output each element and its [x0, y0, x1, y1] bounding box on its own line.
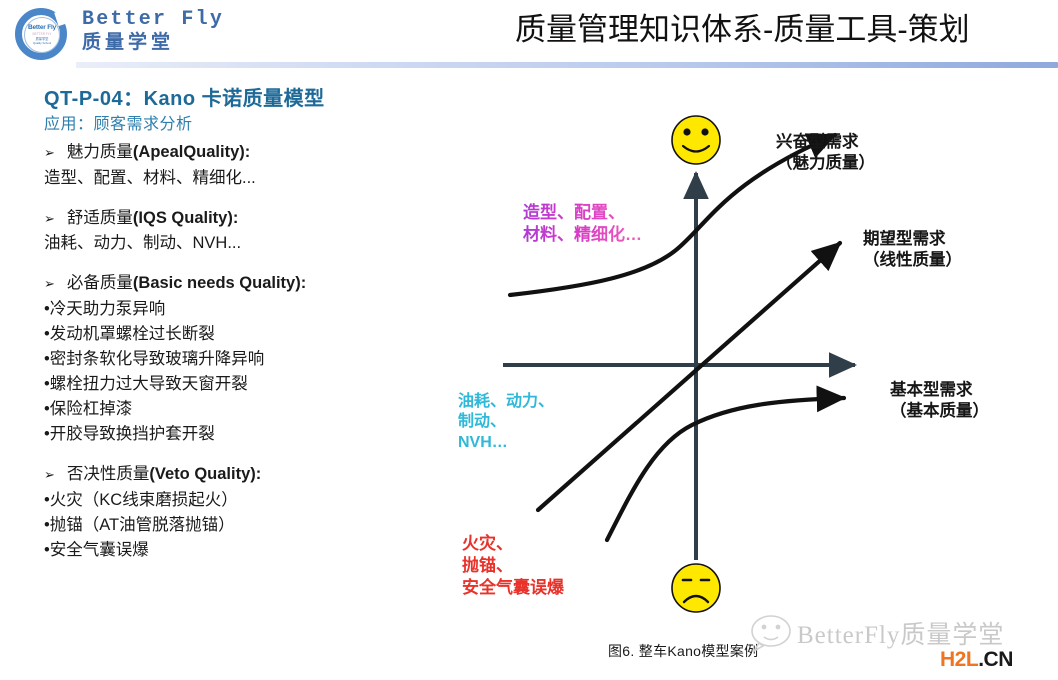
group-heading: ➢否决性质量(Veto Quality): [44, 462, 464, 488]
list-item: •安全气囊误爆 [44, 538, 464, 563]
annotation-attractive-line2: 材料、精细化… [523, 224, 642, 246]
label-basic-need: 基本型需求 （基本质量） [890, 380, 989, 422]
list-item: •发动机罩螺栓过长断裂 [44, 322, 464, 347]
list-item: •抛锚（AT油管脱落抛锚） [44, 513, 464, 538]
site-watermark-prefix: H2L [940, 648, 978, 671]
annotation-performance-items: 油耗、动力、 制动、 NVH… [458, 392, 554, 453]
group-heading-en: (ApealQuality): [133, 143, 250, 161]
page-title: 质量管理知识体系-质量工具-策划 [515, 4, 1055, 49]
annotation-veto-items: 火灾、 抛锚、 安全气囊误爆 [462, 533, 564, 598]
site-watermark: H2L.CN [940, 648, 1013, 672]
quality-group-veto: ➢否决性质量(Veto Quality): •火灾（KC线束磨损起火） •抛锚（… [44, 462, 464, 563]
label-exciting-line2: （魅力质量） [776, 153, 875, 174]
smiley-sad-face-icon [672, 564, 720, 612]
annotation-attractive-line1: 造型、配置、 [523, 202, 642, 224]
bullet-arrow-icon: ➢ [44, 467, 55, 482]
list-item: 造型、配置、材料、精细化... [44, 166, 464, 191]
site-watermark-suffix: .CN [978, 648, 1013, 671]
logo-text-line4: Quality School [33, 42, 51, 45]
label-performance-line2: （线性质量） [863, 250, 962, 271]
brand-wordmark: Better Fly 质量学堂 [82, 8, 224, 54]
group-heading-cn: 必备质量 [67, 274, 133, 292]
annotation-performance-line3: NVH… [458, 433, 554, 453]
spacer [44, 191, 464, 206]
header-divider [76, 62, 1058, 68]
bullet-arrow-icon: ➢ [44, 276, 55, 291]
annotation-veto-line1: 火灾、 [462, 533, 564, 555]
quality-group-basic: ➢必备质量(Basic needs Quality): •冷天助力泵异响 •发动… [44, 271, 464, 447]
logo-inner-disc: Better Fly BETTER FLY 质量学堂 Quality Schoo… [24, 17, 60, 53]
group-heading-cn: 舒适质量 [67, 209, 133, 227]
brand-name-cn: 质量学堂 [82, 32, 224, 54]
list-item: •螺栓扭力过大导致天窗开裂 [44, 372, 464, 397]
group-heading-en: (Basic needs Quality): [133, 274, 306, 292]
annotation-performance-line2: 制动、 [458, 412, 554, 432]
logo-text-line1: Better Fly [28, 25, 56, 32]
bullet-arrow-icon: ➢ [44, 211, 55, 226]
brand-logo: Better Fly BETTER FLY 质量学堂 Quality Schoo… [13, 6, 73, 62]
quality-group-comfort: ➢舒适质量(IQS Quality): 油耗、动力、制动、NVH... [44, 206, 464, 257]
label-basic-line2: （基本质量） [890, 401, 989, 422]
annotation-veto-line3: 安全气囊误爆 [462, 577, 564, 599]
label-basic-line1: 基本型需求 [890, 380, 989, 401]
group-heading: ➢魅力质量(ApealQuality): [44, 140, 464, 166]
bullet-arrow-icon: ➢ [44, 145, 55, 160]
group-heading: ➢必备质量(Basic needs Quality): [44, 271, 464, 297]
spacer [44, 447, 464, 462]
spacer [44, 256, 464, 271]
watermark-text: BetterFly质量学堂 [797, 615, 1004, 651]
annotation-performance-line1: 油耗、动力、 [458, 392, 554, 412]
label-performance-need: 期望型需求 （线性质量） [863, 229, 962, 271]
label-exciting-need: 兴奋型需求 （魅力质量） [776, 132, 875, 174]
group-heading-cn: 否决性质量 [67, 465, 150, 483]
page-header: Better Fly BETTER FLY 质量学堂 Quality Schoo… [0, 0, 1058, 70]
slide-title: QT-P-04：Kano 卡诺质量模型 [44, 82, 325, 111]
group-heading: ➢舒适质量(IQS Quality): [44, 206, 464, 232]
smiley-happy-face-icon [672, 116, 720, 164]
group-heading-cn: 魅力质量 [67, 143, 133, 161]
figure-caption: 图6. 整车Kano模型案例 [608, 641, 758, 661]
quality-group-attractive: ➢魅力质量(ApealQuality): 造型、配置、材料、精细化... [44, 140, 464, 191]
list-item: •冷天助力泵异响 [44, 297, 464, 322]
group-heading-en: (IQS Quality): [133, 209, 238, 227]
annotation-veto-line2: 抛锚、 [462, 555, 564, 577]
list-item: •保险杠掉漆 [44, 397, 464, 422]
group-heading-en: (Veto Quality): [149, 465, 261, 483]
annotation-attractive-items: 造型、配置、 材料、精细化… [523, 202, 642, 246]
content-list: ➢魅力质量(ApealQuality): 造型、配置、材料、精细化... ➢舒适… [44, 140, 464, 563]
label-performance-line1: 期望型需求 [863, 229, 962, 250]
list-item: •开胶导致换挡护套开裂 [44, 422, 464, 447]
logo-text-line2: BETTER FLY [32, 33, 51, 36]
slide-subtitle: 应用：顾客需求分析 [44, 110, 193, 134]
list-item: 油耗、动力、制动、NVH... [44, 231, 464, 256]
brand-name-en: Better Fly [82, 8, 224, 31]
label-exciting-line1: 兴奋型需求 [776, 132, 875, 153]
list-item: •火灾（KC线束磨损起火） [44, 488, 464, 513]
wechat-ghost-icon [745, 613, 799, 653]
list-item: •密封条软化导致玻璃升降异响 [44, 347, 464, 372]
kano-model-diagram: 兴奋型需求 （魅力质量） 期望型需求 （线性质量） 基本型需求 （基本质量） 造… [440, 110, 1058, 650]
